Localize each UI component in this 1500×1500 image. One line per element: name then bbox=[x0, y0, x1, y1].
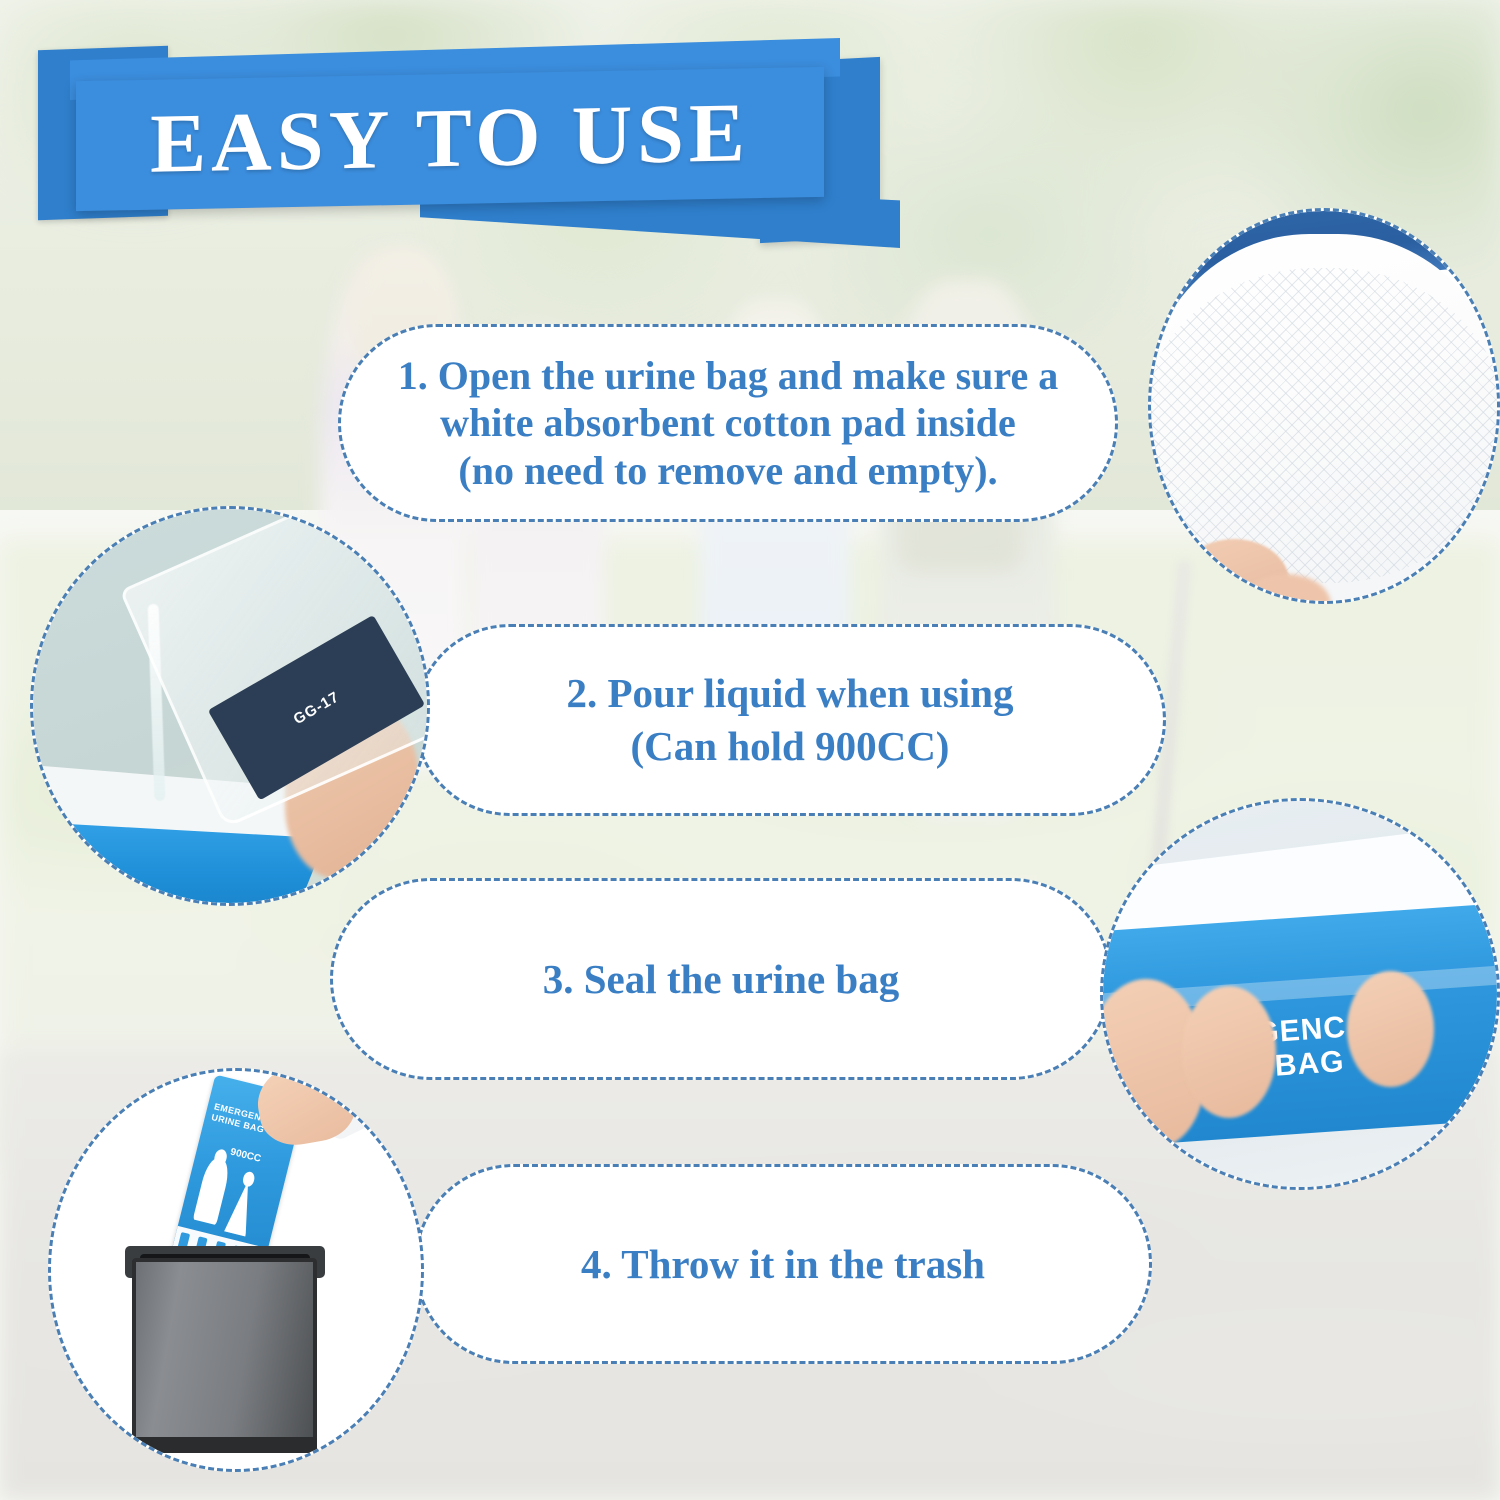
infographic-root: EASY TO USE 1. Open the urine bag and ma… bbox=[0, 0, 1500, 1500]
trash-can-body bbox=[132, 1258, 317, 1445]
header-banner: EASY TO USE bbox=[0, 0, 900, 240]
step-4-callout: 4. Throw it in the trash bbox=[414, 1164, 1152, 1364]
step-3-text: 3. Seal the urine bag bbox=[543, 955, 900, 1003]
photo-throw-in-trash: EMERGENCY URINE BAG 900CC bbox=[48, 1068, 424, 1472]
step-3-callout: 3. Seal the urine bag bbox=[330, 878, 1112, 1080]
cotton-pad-texture bbox=[1151, 268, 1497, 582]
female-pictogram-head bbox=[241, 1170, 255, 1187]
step-1-line-3: (no need to remove and empty). bbox=[458, 448, 997, 493]
packet-capacity: 900CC bbox=[229, 1146, 262, 1164]
photo-sealing-bag: EMERGENC URINE BAG bbox=[1100, 798, 1500, 1190]
step-1-line-2: white absorbent cotton pad inside bbox=[440, 400, 1016, 445]
step-2-line-1: 2. Pour liquid when using bbox=[567, 670, 1014, 716]
step-4-text: 4. Throw it in the trash bbox=[581, 1240, 985, 1288]
photo-pouring-liquid: EMERGEN GG-17 bbox=[30, 506, 430, 906]
step-2-callout: 2. Pour liquid when using (Can hold 900C… bbox=[414, 624, 1166, 816]
step-1-line-1: 1. Open the urine bag and make sure a bbox=[398, 353, 1058, 398]
step-2-text: 2. Pour liquid when using (Can hold 900C… bbox=[567, 667, 1014, 774]
step-2-line-2: (Can hold 900CC) bbox=[631, 723, 950, 769]
female-pictogram-body bbox=[224, 1178, 259, 1237]
pouring-image: EMERGEN GG-17 bbox=[33, 509, 427, 903]
trash-can-base bbox=[132, 1437, 317, 1453]
step-1-text: 1. Open the urine bag and make sure a wh… bbox=[398, 352, 1058, 494]
banner-body: EASY TO USE bbox=[76, 67, 824, 211]
step-1-callout: 1. Open the urine bag and make sure a wh… bbox=[338, 324, 1118, 522]
trash-image: EMERGENCY URINE BAG 900CC bbox=[51, 1071, 421, 1469]
bag-label-text: EMERGEN bbox=[35, 896, 133, 903]
finger-left bbox=[1182, 986, 1277, 1117]
sealing-image: EMERGENC URINE BAG bbox=[1103, 801, 1497, 1187]
photo-cotton-pad bbox=[1148, 208, 1500, 604]
male-pictogram-body bbox=[192, 1156, 231, 1226]
cotton-pad-image bbox=[1151, 211, 1497, 601]
page-title: EASY TO USE bbox=[150, 91, 750, 187]
finger-right bbox=[1347, 971, 1434, 1087]
